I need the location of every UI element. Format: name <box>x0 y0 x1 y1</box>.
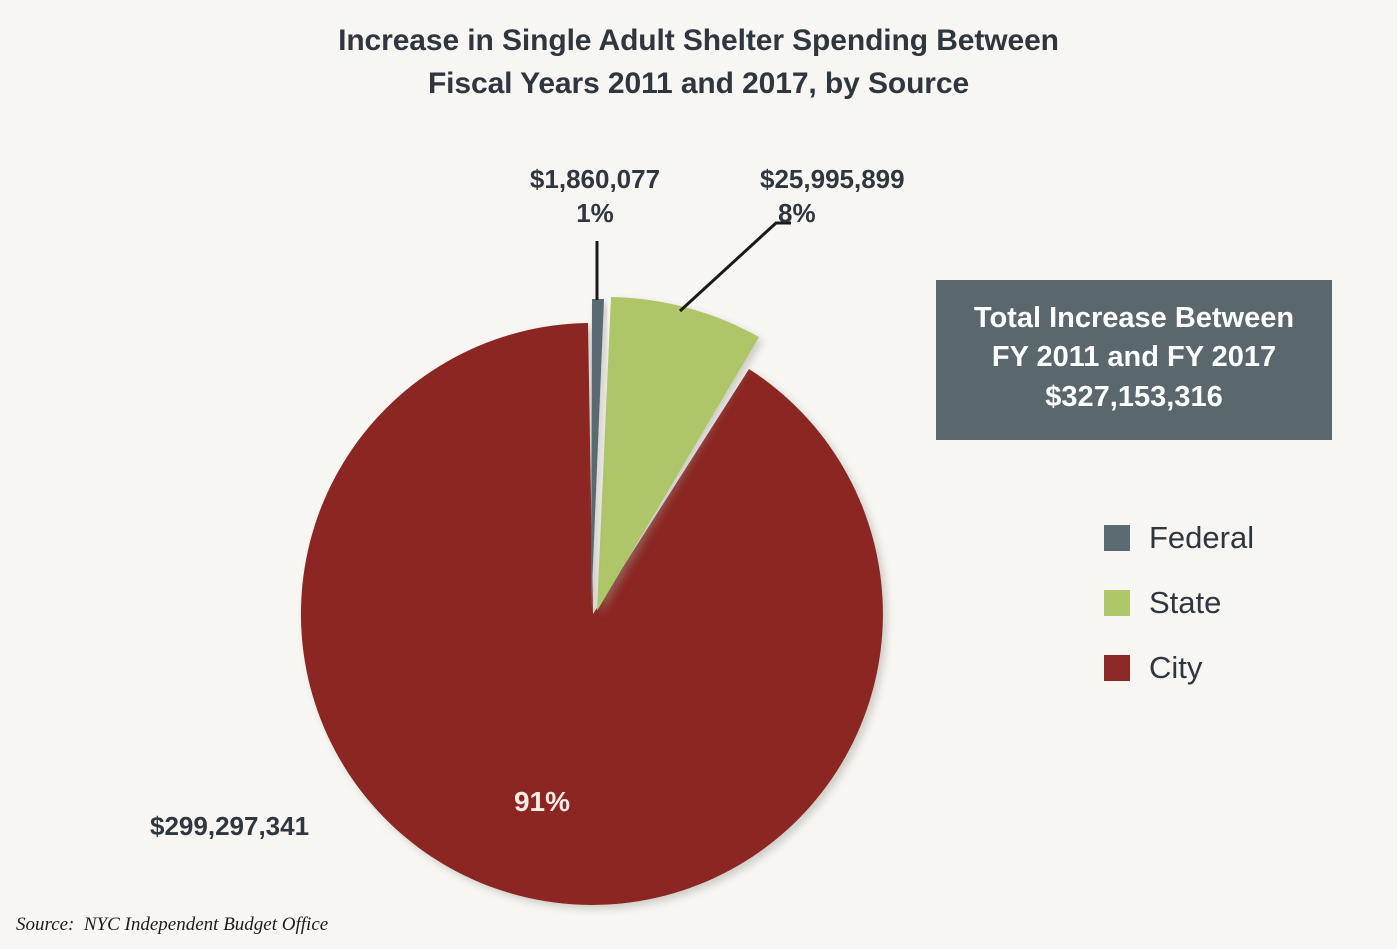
data-label-federal-percent: 1% <box>450 196 740 230</box>
data-label-federal-value: $1,860,077 <box>530 164 660 194</box>
data-label-city-value: $299,297,341 <box>150 811 309 841</box>
page-title: Increase in Single Adult Shelter Spendin… <box>0 20 1397 106</box>
source-note: Source: NYC Independent Budget Office <box>16 914 328 936</box>
title-line-1: Increase in Single Adult Shelter Spendin… <box>0 20 1397 63</box>
legend-swatch-city-icon <box>1104 655 1130 681</box>
data-label-state-value: $25,995,899 <box>760 164 905 194</box>
data-label-state: $25,995,899 8% <box>760 162 1004 231</box>
chart-canvas: Increase in Single Adult Shelter Spendin… <box>0 0 1397 949</box>
leader-line-state <box>680 223 791 311</box>
callout-line-1: Total Increase Between <box>974 299 1294 338</box>
callout-line-2: FY 2011 and FY 2017 <box>992 338 1276 377</box>
title-line-2: Fiscal Years 2011 and 2017, by Source <box>0 63 1397 106</box>
legend-swatch-state-icon <box>1104 590 1130 616</box>
legend-item-federal[interactable]: Federal <box>1104 505 1254 570</box>
pie-chart <box>0 0 1397 949</box>
legend: Federal State City <box>1104 505 1254 700</box>
data-label-federal: $1,860,077 1% <box>450 162 740 231</box>
callout-line-3: $327,153,316 <box>1045 378 1222 417</box>
data-label-state-percent: 8% <box>760 196 1004 230</box>
legend-label-state: State <box>1149 587 1221 618</box>
legend-item-city[interactable]: City <box>1104 635 1254 700</box>
legend-label-city: City <box>1149 652 1202 683</box>
legend-swatch-federal-icon <box>1104 525 1130 551</box>
data-label-city-percent: 91% <box>497 786 587 818</box>
total-increase-callout: Total Increase Between FY 2011 and FY 20… <box>936 280 1332 440</box>
data-label-city: $299,297,341 <box>150 809 309 843</box>
legend-item-state[interactable]: State <box>1104 570 1254 635</box>
legend-label-federal: Federal <box>1149 522 1254 553</box>
